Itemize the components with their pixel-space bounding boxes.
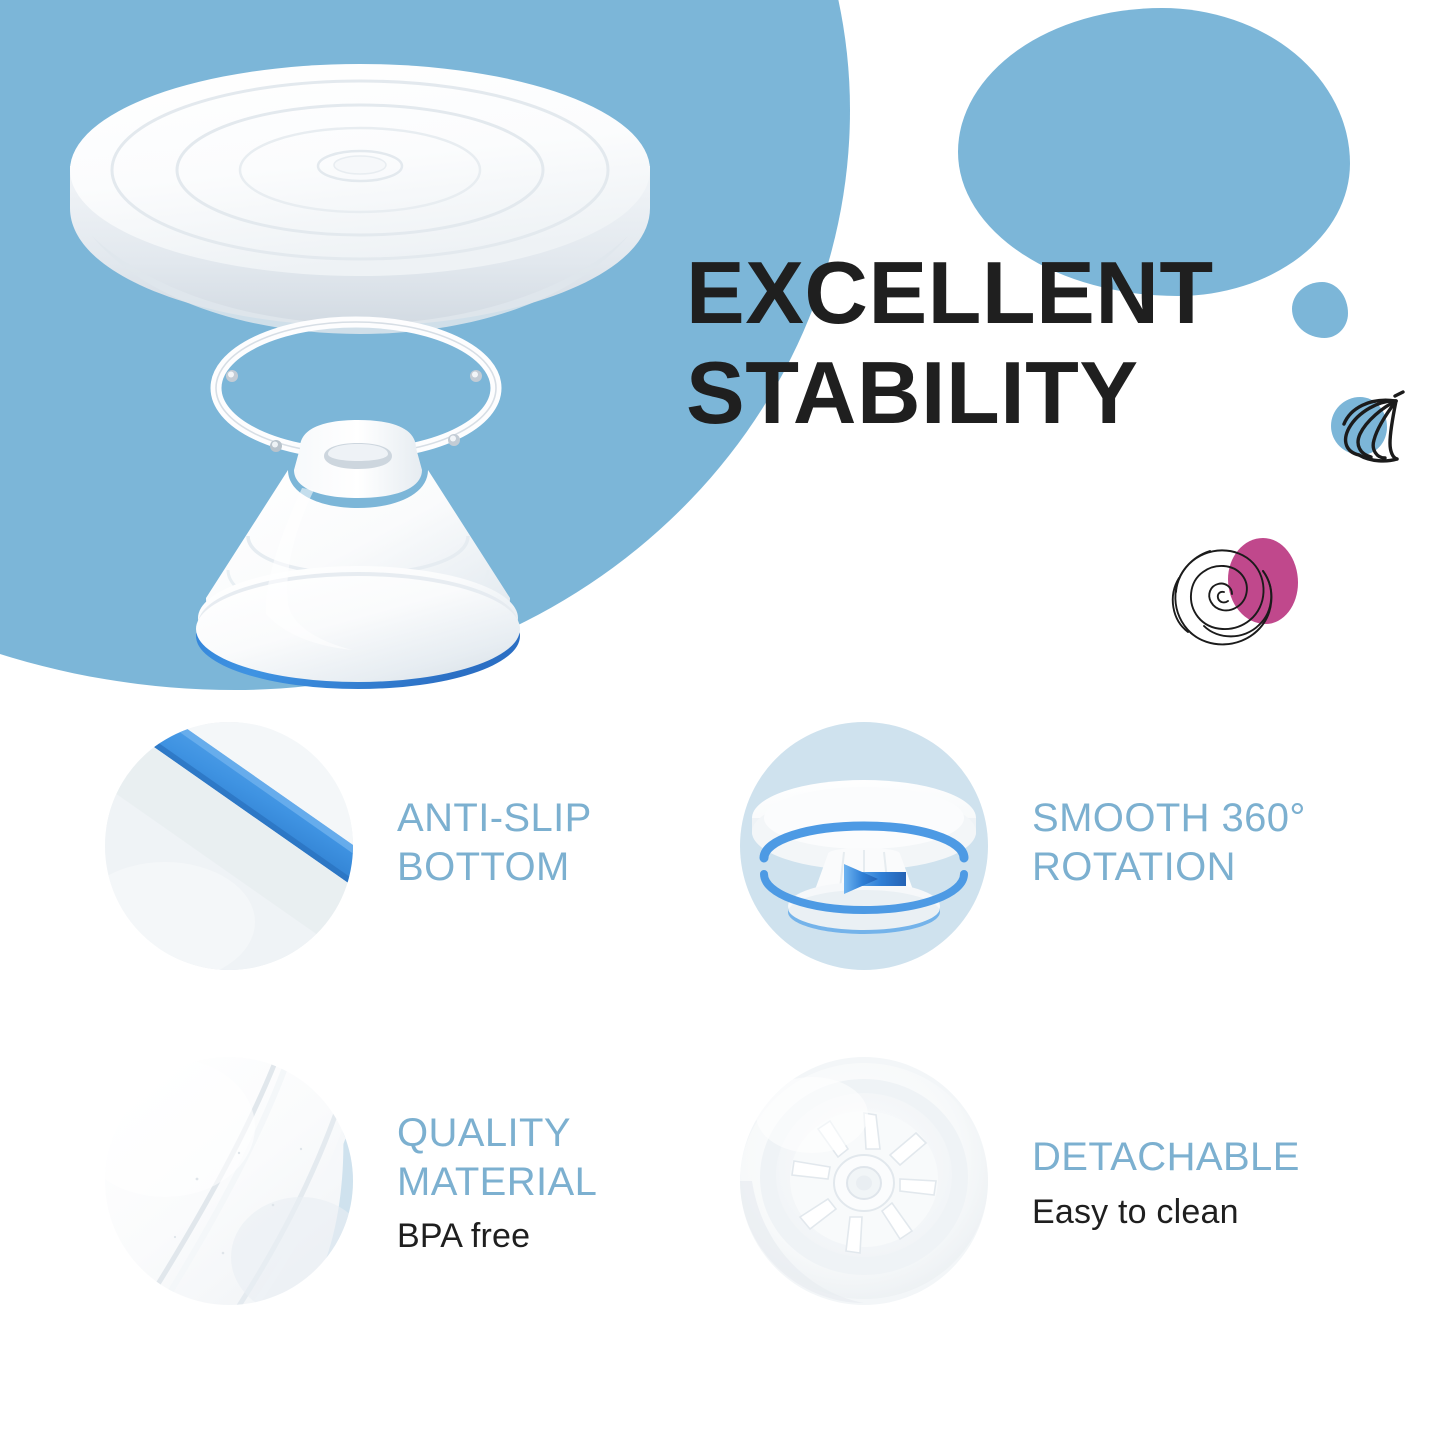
headline-line-2: STABILITY — [686, 343, 1386, 443]
feature-text: ANTI-SLIP BOTTOM — [397, 790, 745, 902]
feature-text: DETACHABLE Easy to clean — [1032, 1129, 1300, 1233]
feature-title: QUALITY MATERIAL — [397, 1109, 745, 1207]
feature-quality-material: QUALITY MATERIAL BPA free — [105, 1057, 745, 1305]
feature-text: SMOOTH 360° ROTATION — [1032, 790, 1380, 902]
headline-line-1: EXCELLENT — [686, 243, 1386, 343]
feature-grid: ANTI-SLIP BOTTOM — [0, 722, 1445, 1445]
feature-title: ANTI-SLIP BOTTOM — [397, 794, 745, 892]
hero-product-image — [52, 58, 672, 703]
anti-slip-ring-closeup — [105, 722, 353, 970]
feature-subtitle: BPA free — [397, 1216, 745, 1257]
feature-smooth-rotation: SMOOTH 360° ROTATION — [740, 722, 1380, 970]
feature-detachable: DETACHABLE Easy to clean — [740, 1057, 1380, 1305]
base-underside-closeup — [740, 1057, 988, 1305]
feature-title: DETACHABLE — [1032, 1133, 1300, 1182]
whisk-icon — [1333, 388, 1411, 468]
feature-anti-slip-bottom: ANTI-SLIP BOTTOM — [105, 722, 745, 970]
feature-text: QUALITY MATERIAL BPA free — [397, 1105, 745, 1257]
product-infographic: EXCELLENT STABILITY — [0, 0, 1445, 1445]
feature-title: SMOOTH 360° ROTATION — [1032, 794, 1380, 892]
rose-swirl-icon — [1162, 532, 1296, 656]
plastic-surface-closeup — [105, 1057, 353, 1305]
feature-subtitle: Easy to clean — [1032, 1192, 1300, 1233]
headline: EXCELLENT STABILITY — [686, 243, 1386, 444]
rotation-diagram — [740, 722, 988, 970]
